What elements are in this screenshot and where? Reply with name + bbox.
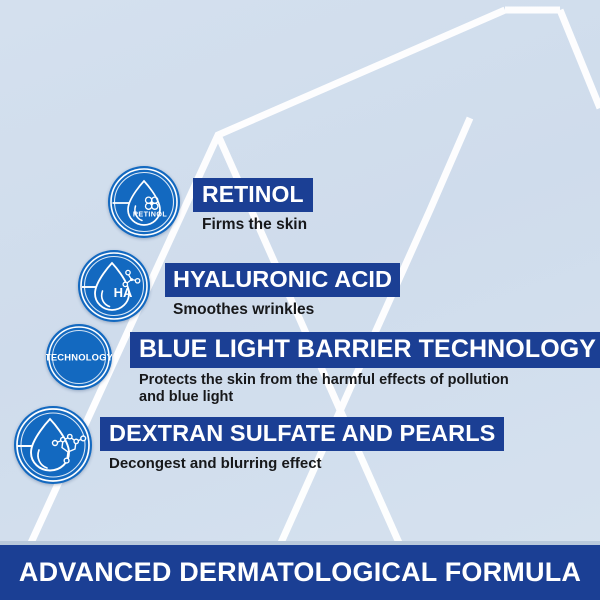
footer-banner: ADVANCED DERMATOLOGICAL FORMULA (0, 545, 600, 600)
ingredient-title-blue-light-barrier-technology: BLUE LIGHT BARRIER TECHNOLOGY (130, 332, 600, 368)
technology-icon-label: TECHNOLOGY (46, 352, 112, 363)
footer-banner-text: ADVANCED DERMATOLOGICAL FORMULA (19, 557, 581, 588)
ingredient-subtitle-dextran-sulfate-and-pearls: Decongest and blurring effect (100, 455, 504, 472)
dextran-molecule-droplet-icon (14, 406, 92, 484)
ingredient-subtitle-blue-light-barrier-technology: Protects the skin from the harmful effec… (130, 372, 600, 406)
ingredient-title-dextran-sulfate-and-pearls: DEXTRAN SULFATE AND PEARLS (100, 417, 504, 451)
hyaluronic-acid-icon-label: HA (114, 285, 133, 300)
retinol-droplet-icon: RETINOL (108, 166, 180, 238)
retinol-icon-label: RETINOL (133, 210, 168, 219)
ingredient-title-hyaluronic-acid: HYALURONIC ACID (165, 263, 400, 297)
ingredient-title-retinol: RETINOL (193, 178, 313, 212)
ingredient-subtitle-retinol: Firms the skin (193, 216, 313, 234)
ingredient-poster: RETINOL RETINOL Firms the skin (0, 0, 600, 600)
ingredient-subtitle-hyaluronic-acid: Smoothes wrinkles (165, 301, 400, 319)
technology-circle-icon: TECHNOLOGY (46, 324, 112, 390)
hyaluronic-acid-droplet-icon: HA (78, 250, 150, 322)
